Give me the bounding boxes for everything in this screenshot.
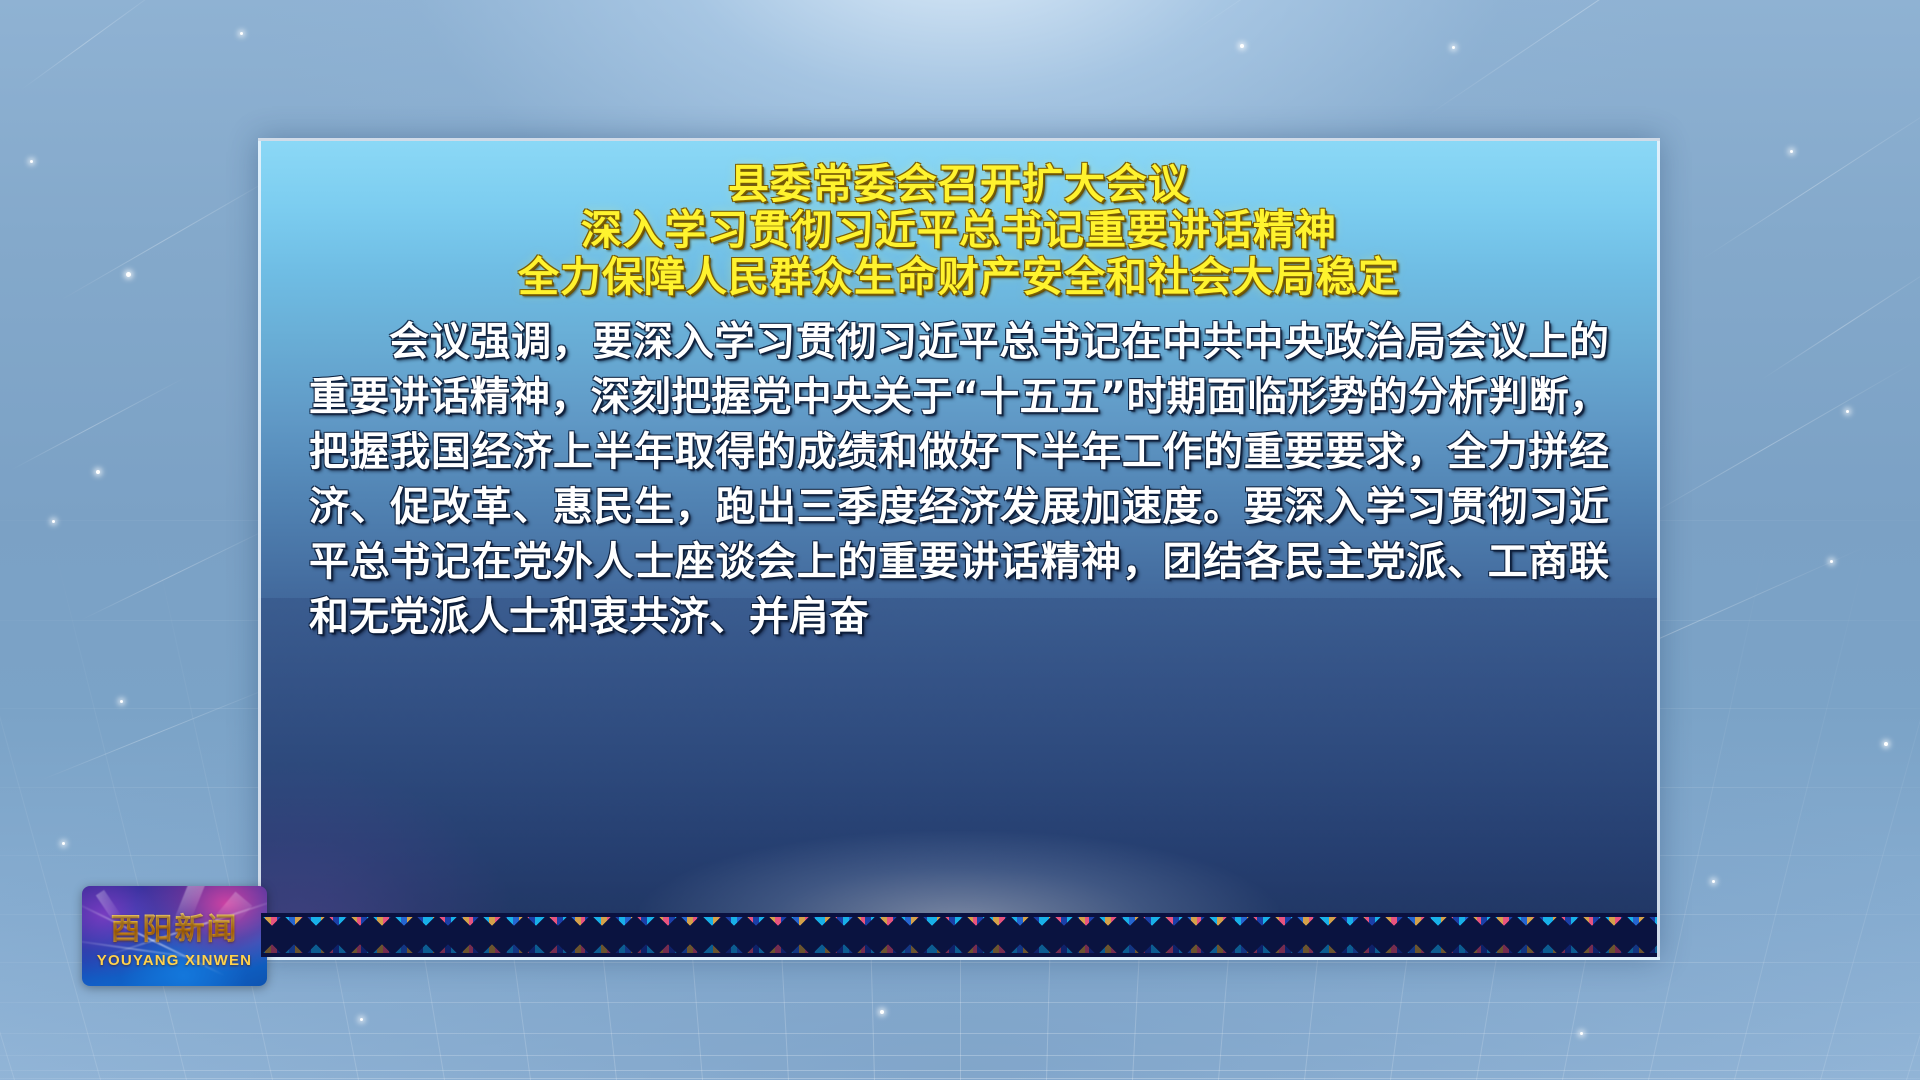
headline-line-2: 深入学习贯彻习近平总书记重要讲话精神: [309, 209, 1609, 252]
station-name-cn: 酉阳新闻: [82, 904, 267, 948]
station-logo-bug: 酉阳新闻 YOUYANG XINWEN: [82, 886, 267, 986]
headline-line-1: 县委常委会召开扩大会议: [309, 163, 1609, 206]
news-content-panel: 县委常委会召开扩大会议 深入学习贯彻习近平总书记重要讲话精神 全力保障人民群众生…: [258, 138, 1660, 960]
headline: 县委常委会召开扩大会议 深入学习贯彻习近平总书记重要讲话精神 全力保障人民群众生…: [309, 163, 1609, 299]
brocade-triangle-row-top: [261, 917, 1657, 935]
station-name-en: YOUYANG XINWEN: [82, 952, 267, 969]
brocade-triangle-row-bottom: [261, 935, 1657, 953]
broadcast-screen: 县委常委会召开扩大会议 深入学习贯彻习近平总书记重要讲话精神 全力保障人民群众生…: [0, 0, 1920, 1080]
tujia-brocade-border: [261, 913, 1657, 957]
headline-line-3: 全力保障人民群众生命财产安全和社会大局稳定: [309, 256, 1609, 299]
panel-inner: 县委常委会召开扩大会议 深入学习贯彻习近平总书记重要讲话精神 全力保障人民群众生…: [261, 141, 1657, 645]
body-paragraph: 会议强调，要深入学习贯彻习近平总书记在中共中央政治局会议上的重要讲话精神，深刻把…: [309, 315, 1609, 645]
